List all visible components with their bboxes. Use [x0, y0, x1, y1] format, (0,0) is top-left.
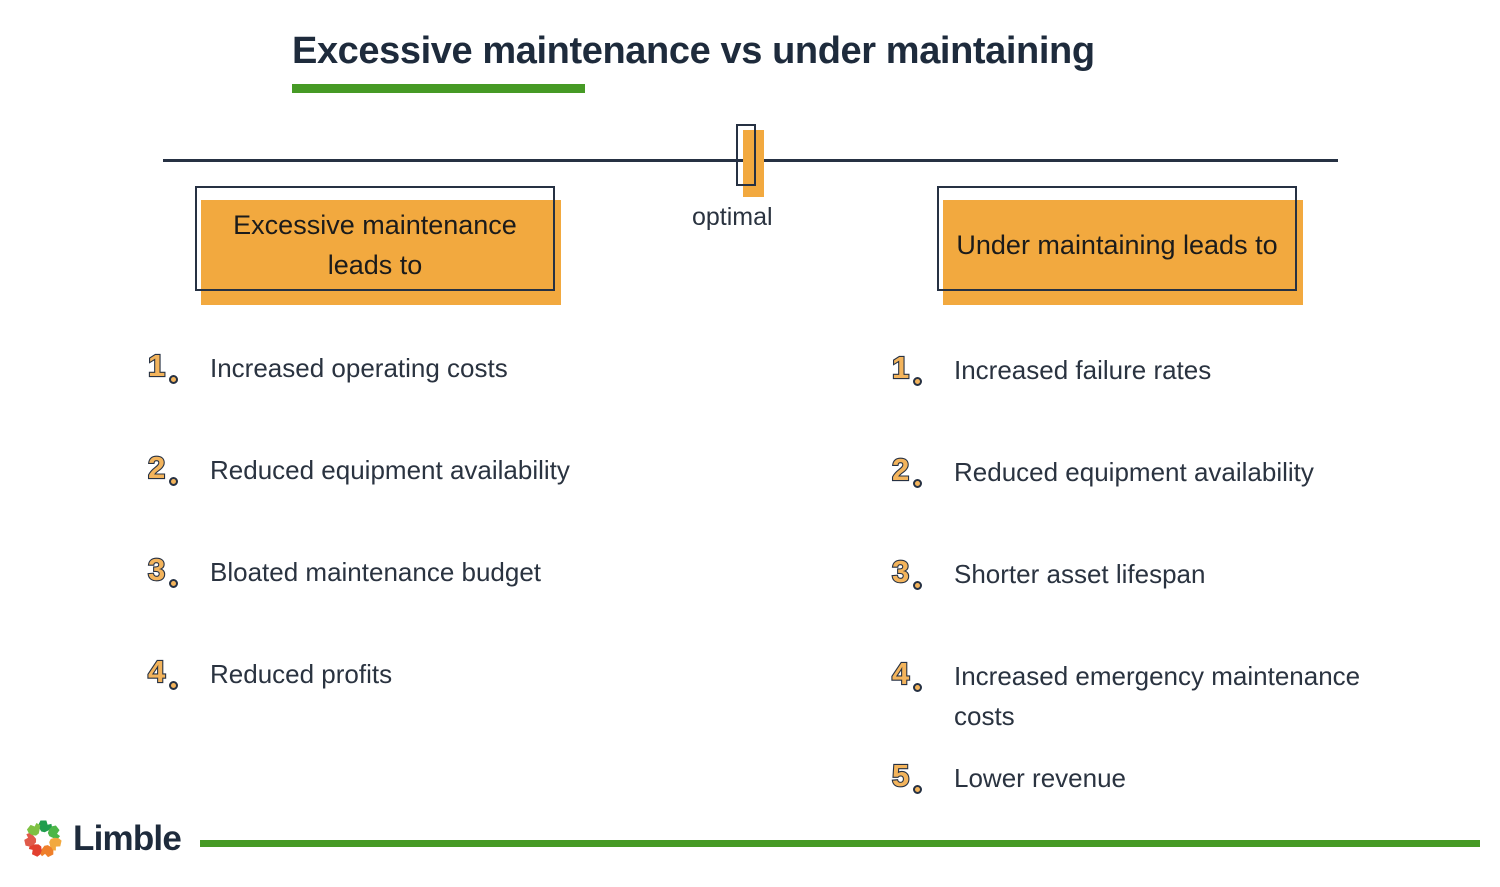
list-item: 1Increased failure rates [892, 350, 1211, 390]
list-item-text: Bloated maintenance budget [210, 552, 541, 592]
list-item: 4Increased emergency maintenance costs [892, 656, 1414, 737]
list-item-text: Reduced equipment availability [954, 452, 1314, 492]
list-item-number: 4 [148, 654, 210, 687]
optimal-label: optimal [692, 203, 773, 232]
header-box-label: Under maintaining leads to [937, 186, 1297, 291]
list-item-text: Increased operating costs [210, 348, 508, 388]
list-item-number-dot-icon [913, 683, 922, 692]
list-item-text: Increased failure rates [954, 350, 1211, 390]
footer-rule [200, 840, 1480, 847]
list-item-text: Increased emergency maintenance costs [954, 656, 1414, 737]
list-item-number: 2 [148, 450, 210, 483]
list-item-number: 1 [148, 348, 210, 381]
header-box-label: Excessive maintenance leads to [195, 186, 555, 291]
list-item: 4Reduced profits [148, 654, 392, 694]
list-item-number-dot-icon [913, 581, 922, 590]
list-item: 1Increased operating costs [148, 348, 508, 388]
list-item-number: 5 [892, 758, 954, 791]
list-item-text: Reduced profits [210, 654, 392, 694]
list-item-number: 3 [892, 554, 954, 587]
list-item-number-digit: 2 [148, 452, 165, 483]
list-item-number-digit: 3 [148, 554, 165, 585]
list-item-number-digit: 1 [892, 352, 909, 383]
list-item-number-dot-icon [169, 375, 178, 384]
list-item-text: Lower revenue [954, 758, 1126, 798]
limble-pinwheel-icon [22, 818, 64, 860]
list-item-number-dot-icon [169, 681, 178, 690]
list-item: 2Reduced equipment availability [148, 450, 570, 490]
list-item-number-dot-icon [913, 377, 922, 386]
list-item-number-digit: 1 [148, 350, 165, 381]
list-item-number: 3 [148, 552, 210, 585]
page-title: Excessive maintenance vs under maintaini… [292, 30, 1095, 73]
list-item: 5Lower revenue [892, 758, 1126, 798]
list-item-text: Shorter asset lifespan [954, 554, 1205, 594]
list-item-text: Reduced equipment availability [210, 450, 570, 490]
list-item-number-digit: 4 [148, 656, 165, 687]
brand-logo: Limble [22, 818, 181, 860]
list-item-number-dot-icon [169, 477, 178, 486]
title-underline-rule [292, 84, 585, 93]
list-item-number-dot-icon [913, 785, 922, 794]
list-item-number: 2 [892, 452, 954, 485]
list-item-number: 1 [892, 350, 954, 383]
optimal-marker-outline [736, 124, 756, 186]
list-item: 3Bloated maintenance budget [148, 552, 541, 592]
brand-name: Limble [73, 819, 181, 859]
list-item-number-dot-icon [913, 479, 922, 488]
list-item: 3Shorter asset lifespan [892, 554, 1205, 594]
list-item-number-digit: 4 [892, 658, 909, 689]
optimal-marker [736, 124, 766, 197]
header-box-excessive-maintenance: Excessive maintenance leads to [195, 186, 555, 291]
list-item-number: 4 [892, 656, 954, 689]
header-box-under-maintaining: Under maintaining leads to [937, 186, 1297, 291]
list-item-number-digit: 2 [892, 454, 909, 485]
list-item: 2Reduced equipment availability [892, 452, 1314, 492]
list-item-number-digit: 3 [892, 556, 909, 587]
list-item-number-dot-icon [169, 579, 178, 588]
list-item-number-digit: 5 [892, 760, 909, 791]
